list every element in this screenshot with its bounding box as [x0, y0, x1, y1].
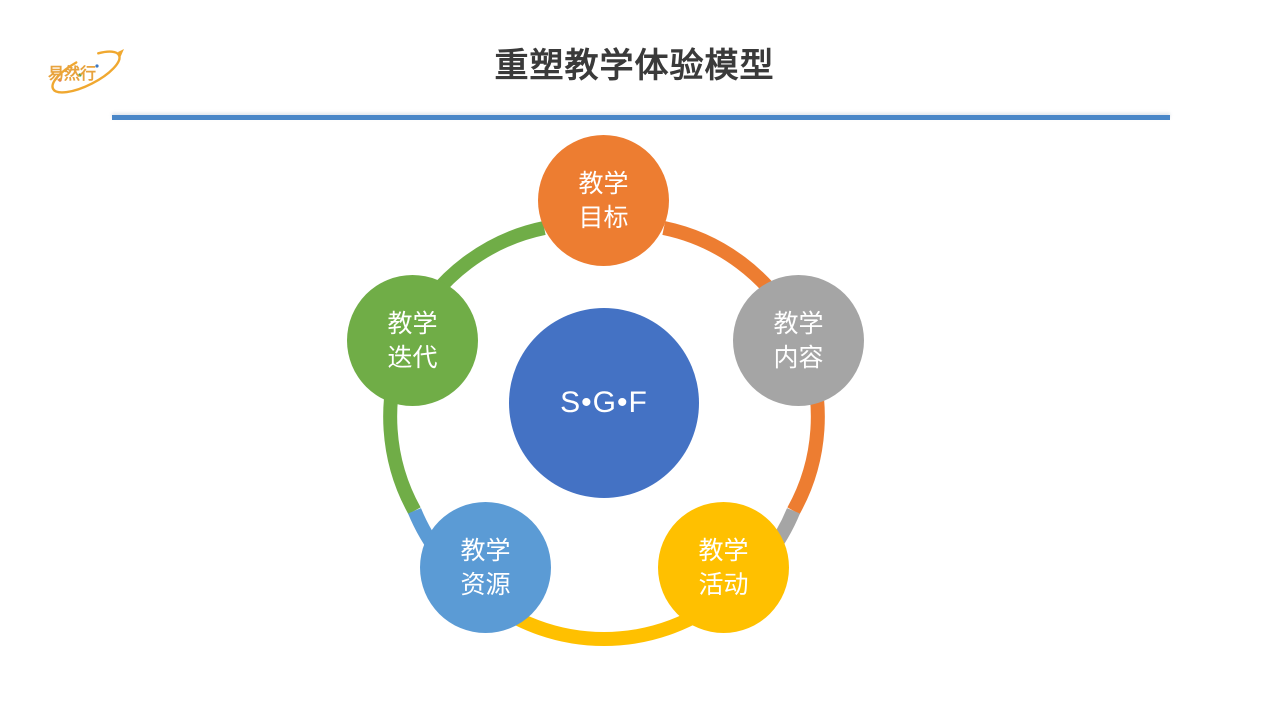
node-iteration-line1: 教学 — [387, 307, 437, 341]
node-teaching-content[interactable]: 教学 内容 — [733, 275, 864, 406]
cycle-diagram: S•G•F 教学 目标 教学 内容 教学 活动 教学 资源 教学 迭代 — [0, 108, 1269, 708]
node-iteration-line2: 迭代 — [387, 341, 437, 375]
center-node-sgf[interactable]: S•G•F — [509, 308, 699, 498]
node-teaching-goal[interactable]: 教学 目标 — [538, 135, 669, 266]
node-goal-line1: 教学 — [578, 167, 628, 201]
node-teaching-iteration[interactable]: 教学 迭代 — [347, 275, 478, 406]
page-title: 重塑教学体验模型 — [0, 44, 1269, 88]
slide-canvas: 易然行 重塑教学体验模型 S•G•F 教学 目标 教 — [0, 0, 1269, 713]
node-goal-line2: 目标 — [578, 201, 628, 235]
node-resource-line2: 资源 — [460, 568, 510, 602]
center-node-label: S•G•F — [560, 386, 648, 420]
node-activity-line2: 活动 — [698, 568, 748, 602]
node-teaching-activity[interactable]: 教学 活动 — [658, 502, 789, 633]
node-activity-line1: 教学 — [698, 534, 748, 568]
node-content-line2: 内容 — [773, 341, 823, 375]
node-teaching-resource[interactable]: 教学 资源 — [420, 502, 551, 633]
node-content-line1: 教学 — [773, 307, 823, 341]
node-resource-line1: 教学 — [460, 534, 510, 568]
